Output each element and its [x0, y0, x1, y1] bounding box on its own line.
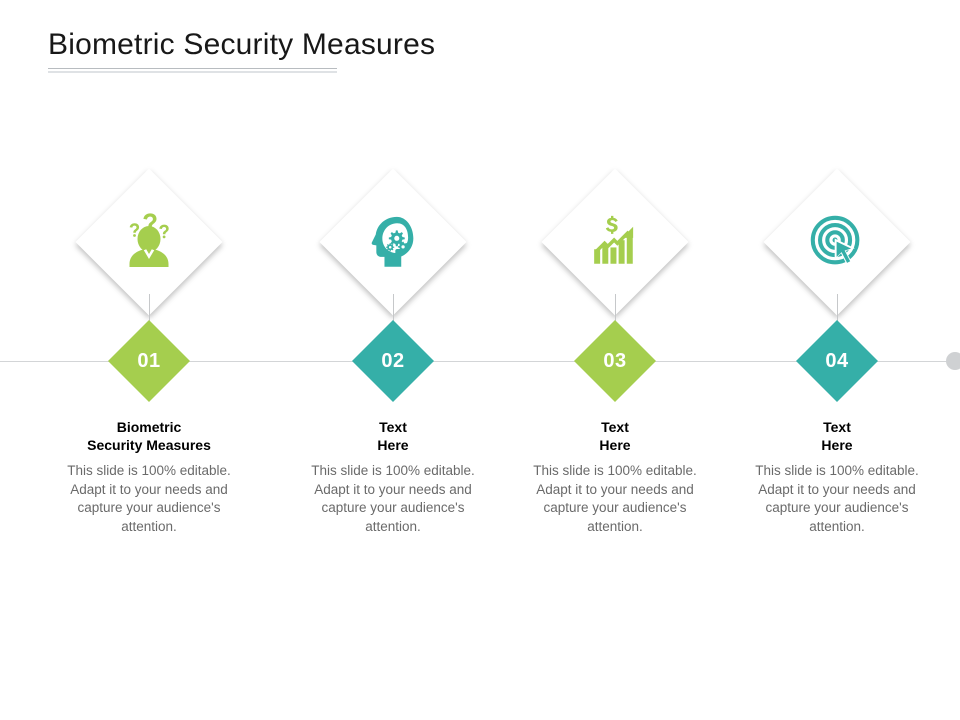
slide-canvas: Biometric Security Measures — [0, 0, 960, 720]
step-heading-2-line-1: Text — [282, 418, 504, 436]
step-body-4: This slide is 100% editable. Adapt it to… — [737, 462, 937, 536]
step-heading-2-line-2: Here — [282, 436, 504, 454]
step-heading-4-line-2: Here — [726, 436, 948, 454]
timeline-step-1[interactable]: 01 Biometric Security Measures This slid… — [38, 0, 260, 720]
timeline-step-4[interactable]: 04 Text Here This slide is 100% editable… — [726, 0, 948, 720]
step-number-label-4: 04 — [808, 332, 866, 390]
head-gears-icon — [357, 206, 429, 278]
step-number-label-2: 02 — [364, 332, 422, 390]
step-heading-4-line-1: Text — [726, 418, 948, 436]
step-heading-1-line-2: Security Measures — [38, 436, 260, 454]
step-heading-3-line-2: Here — [504, 436, 726, 454]
step-number-label-1: 01 — [120, 332, 178, 390]
step-heading-3: Text Here — [504, 418, 726, 454]
target-cursor-icon — [801, 206, 873, 278]
timeline-step-3[interactable]: 03 Text Here This slide is 100% editable… — [504, 0, 726, 720]
step-heading-1-line-1: Biometric — [38, 418, 260, 436]
step-heading-1: Biometric Security Measures — [38, 418, 260, 454]
step-number-label-3: 03 — [586, 332, 644, 390]
step-heading-2: Text Here — [282, 418, 504, 454]
step-body-3: This slide is 100% editable. Adapt it to… — [515, 462, 715, 536]
person-question-marks-icon — [113, 206, 185, 278]
growth-chart-dollar-icon — [579, 206, 651, 278]
timeline-end-dot — [946, 352, 960, 370]
step-heading-3-line-1: Text — [504, 418, 726, 436]
timeline-step-2[interactable]: 02 Text Here This slide is 100% editable… — [282, 0, 504, 720]
step-body-2: This slide is 100% editable. Adapt it to… — [293, 462, 493, 536]
step-heading-4: Text Here — [726, 418, 948, 454]
step-body-1: This slide is 100% editable. Adapt it to… — [49, 462, 249, 536]
